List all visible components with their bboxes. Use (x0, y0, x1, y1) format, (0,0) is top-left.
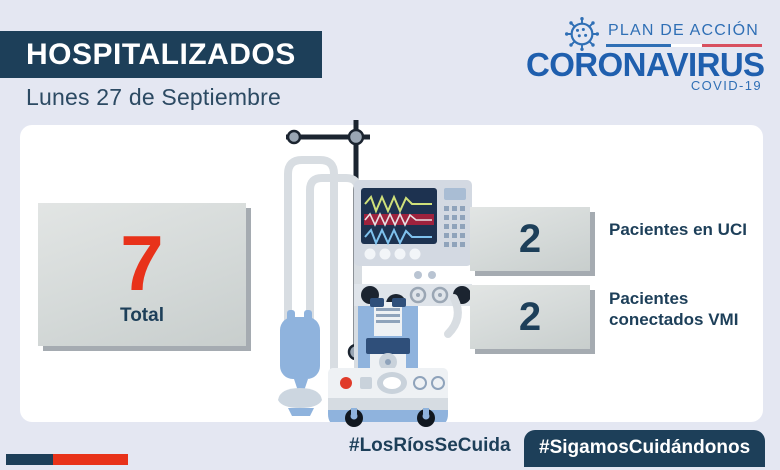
flag-accent-bar (6, 454, 128, 465)
covid-19-label: COVID-19 (691, 78, 762, 93)
stat-card-uci: 2 (470, 207, 590, 271)
hashtag-campaign: #SigamosCuidándonos (524, 430, 765, 467)
infographic-root: HOSPITALIZADOS Lunes 27 de Septiembre (0, 0, 780, 470)
stat-card-total: 7 Total (38, 203, 246, 346)
vmi-value: 2 (519, 295, 541, 340)
hashtag-region: #LosRíosSeCuida (349, 435, 511, 457)
report-date: Lunes 27 de Septiembre (26, 84, 281, 111)
total-value: 7 (120, 228, 163, 298)
coronavirus-plan-logo: PLAN DE ACCIÓN CORONAVIRUS COVID-19 (526, 14, 764, 92)
ventilator-casters (258, 112, 478, 442)
uci-value: 2 (519, 217, 541, 262)
total-label: Total (120, 305, 164, 327)
uci-label: Pacientes en UCI (609, 219, 747, 240)
page-title: HOSPITALIZADOS (26, 38, 296, 72)
stat-card-vmi: 2 (470, 285, 590, 349)
plan-de-accion-text: PLAN DE ACCIÓN (608, 22, 759, 40)
vmi-label: Pacientes conectados VMI (609, 288, 780, 331)
page-title-bar: HOSPITALIZADOS (0, 31, 322, 78)
